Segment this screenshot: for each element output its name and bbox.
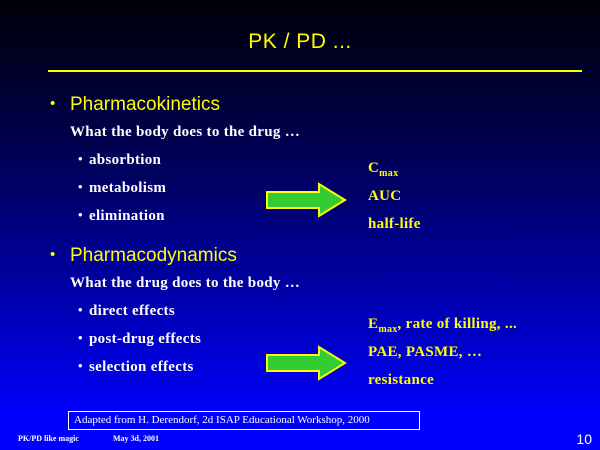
- footer-date: May 3d, 2001: [113, 434, 159, 444]
- list-item: •elimination: [78, 205, 166, 233]
- section-subheading-pharmacodynamics: What the drug does to the body …: [70, 274, 300, 292]
- section-subheading-pharmacokinetics: What the body does to the drug …: [70, 123, 300, 141]
- right-arrow-icon: [265, 345, 347, 381]
- list-item: •post-drug effects: [78, 328, 201, 356]
- footer-deck-label: PK/PD like magic: [18, 434, 79, 444]
- result-subscript: max: [379, 168, 398, 179]
- list-item: resistance: [368, 371, 517, 399]
- bullet-icon: •: [78, 177, 89, 196]
- list-item-label: metabolism: [89, 180, 166, 196]
- bullet-icon: •: [78, 328, 89, 347]
- title-divider: [48, 70, 582, 72]
- result-label: PAE, PASME, …: [368, 344, 482, 360]
- list-item-label: post-drug effects: [89, 331, 201, 347]
- bullet-icon: •: [50, 243, 70, 266]
- pk-bullet-list: •absorbtion •metabolism •elimination: [78, 149, 166, 233]
- list-item-label: absorbtion: [89, 152, 161, 168]
- pd-bullet-list: •direct effects •post-drug effects •sele…: [78, 300, 201, 384]
- section-heading-pharmacodynamics: •Pharmacodynamics: [50, 243, 380, 267]
- list-item: Emax, rate of killing, ...: [368, 315, 517, 343]
- slide-canvas: PK / PD ... •Pharmacokinetics What the b…: [0, 0, 600, 450]
- list-item: AUC: [368, 187, 421, 215]
- pd-result-list: Emax, rate of killing, ... PAE, PASME, ……: [368, 315, 517, 399]
- result-tail: , rate of killing, ...: [398, 316, 518, 332]
- list-item: PAE, PASME, …: [368, 343, 517, 371]
- list-item: •absorbtion: [78, 149, 166, 177]
- result-label: C: [368, 160, 379, 176]
- bullet-icon: •: [78, 300, 89, 319]
- list-item-label: direct effects: [89, 303, 175, 319]
- bullet-icon: •: [78, 356, 89, 375]
- list-item-label: selection effects: [89, 359, 194, 375]
- result-label: AUC: [368, 188, 401, 204]
- page-number: 10: [576, 431, 592, 447]
- section-heading-label: Pharmacodynamics: [70, 245, 237, 266]
- credit-box: Adapted from H. Derendorf, 2d ISAP Educa…: [68, 411, 420, 430]
- list-item: half-life: [368, 215, 421, 243]
- right-arrow-icon: [265, 182, 347, 218]
- credit-text: Adapted from H. Derendorf, 2d ISAP Educa…: [74, 413, 370, 427]
- bullet-icon: •: [50, 92, 70, 115]
- result-label: E: [368, 316, 378, 332]
- pk-result-list: Cmax AUC half-life: [368, 159, 421, 243]
- result-label: half-life: [368, 216, 421, 232]
- section-heading-label: Pharmacokinetics: [70, 94, 220, 115]
- bullet-icon: •: [78, 205, 89, 224]
- list-item: •direct effects: [78, 300, 201, 328]
- list-item: •metabolism: [78, 177, 166, 205]
- result-label: resistance: [368, 372, 434, 388]
- bullet-icon: •: [78, 149, 89, 168]
- list-item: •selection effects: [78, 356, 201, 384]
- result-subscript: max: [378, 324, 397, 335]
- list-item-label: elimination: [89, 208, 165, 224]
- list-item: Cmax: [368, 159, 421, 187]
- page-title: PK / PD ...: [0, 30, 600, 54]
- section-heading-pharmacokinetics: •Pharmacokinetics: [50, 92, 380, 116]
